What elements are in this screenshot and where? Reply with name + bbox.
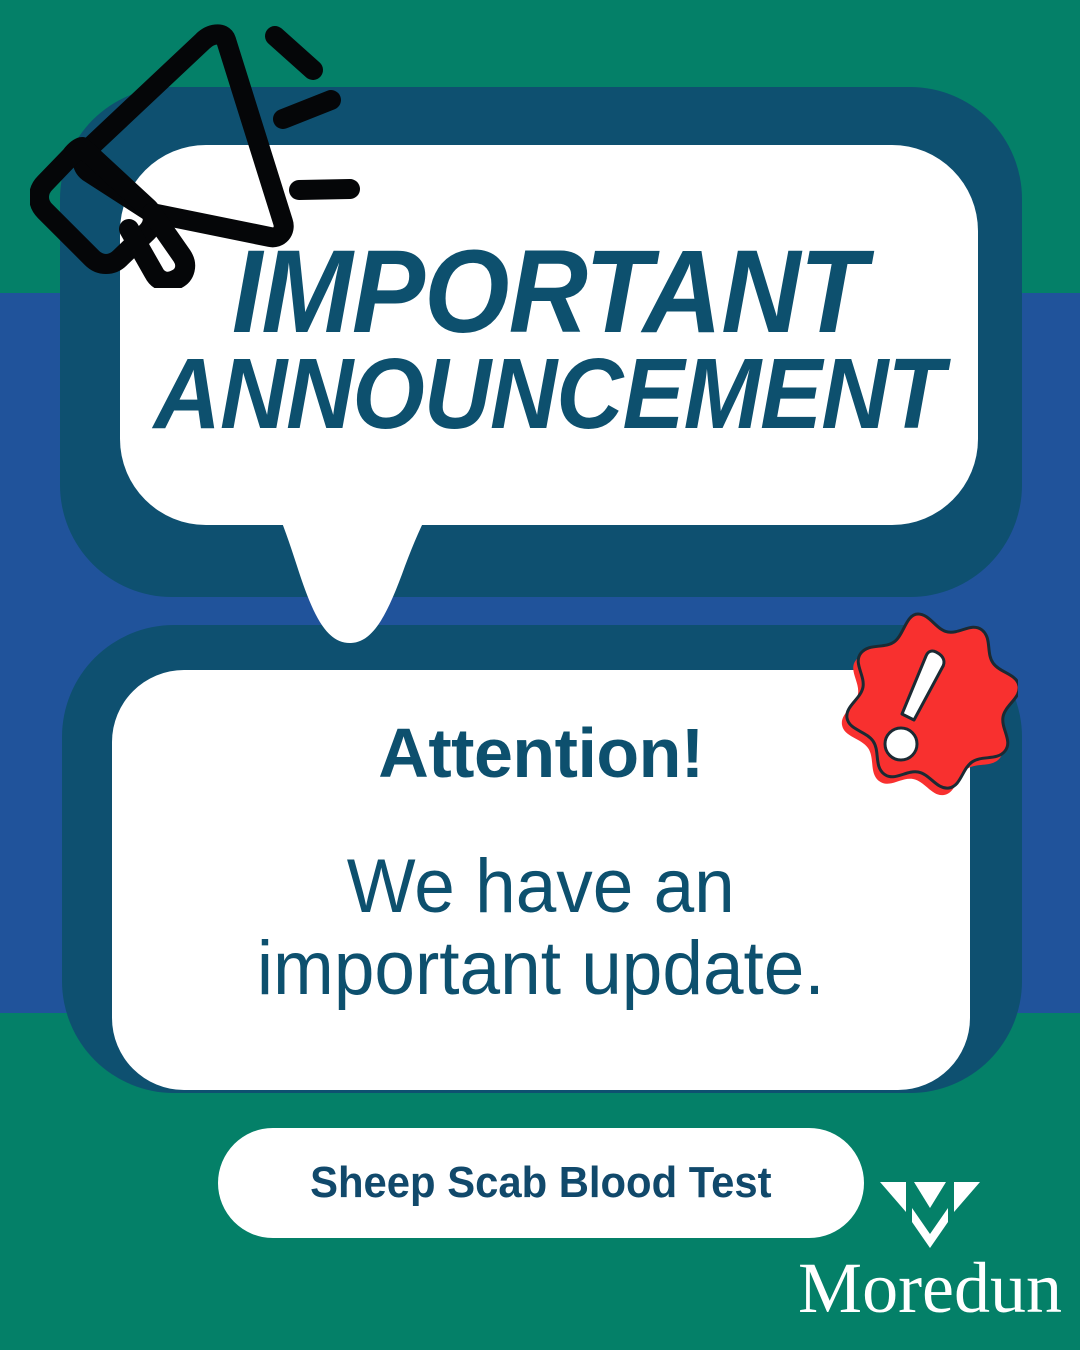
message-body-line-2: important update. [257,928,825,1010]
exclamation-starburst-icon [818,608,1018,803]
moredun-wordmark: Moredun [798,1252,1062,1324]
moredun-chevron-mark-icon [876,1178,984,1250]
headline-line-2: ANNOUNCEMENT [154,347,944,441]
message-body: We have an important update. [257,846,825,1010]
attention-heading: Attention! [378,718,703,788]
topic-pill-label: Sheep Scab Blood Test [310,1158,771,1208]
megaphone-icon [30,8,360,288]
topic-pill-button[interactable]: Sheep Scab Blood Test [218,1128,864,1238]
moredun-logo: Moredun [798,1178,1062,1324]
announcement-poster: IMPORTANT ANNOUNCEMENT Attention! We hav… [0,0,1080,1350]
message-body-line-1: We have an [257,846,825,928]
